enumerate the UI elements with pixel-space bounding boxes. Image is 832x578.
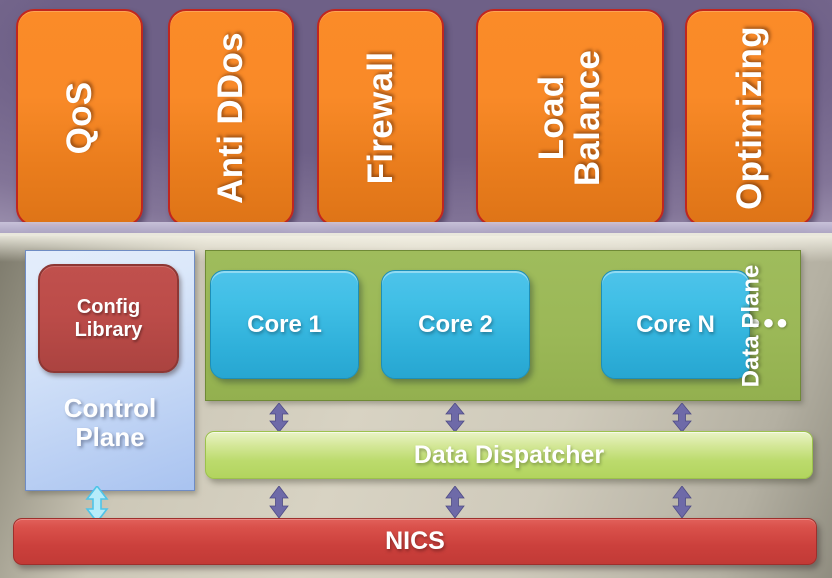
config-library-line2: Library (75, 319, 143, 341)
connector-control-plane-nics-arrow (85, 486, 109, 522)
data-dispatcher-label: Data Dispatcher (414, 441, 604, 470)
core-box-2-label: Core 2 (418, 311, 493, 339)
control-plane-block[interactable]: Config Library Control Plane (25, 250, 195, 491)
core-box-2[interactable]: Core 2 (381, 270, 530, 379)
service-card-load-balance[interactable]: Load Balance (476, 9, 664, 226)
core-box-1[interactable]: Core 1 (210, 270, 359, 379)
config-library-block[interactable]: Config Library (38, 264, 179, 373)
connector-coren-dispatcher-arrow (672, 403, 692, 432)
architecture-diagram: QoS Anti DDos Firewall Load Balance Opti… (0, 0, 832, 578)
connector-core2-dispatcher-arrow (445, 403, 465, 432)
connector-dispatcher-nics-arrow-1 (269, 486, 289, 518)
control-plane-label: Control Plane (26, 394, 194, 452)
control-plane-line1: Control (26, 394, 194, 423)
service-card-anti-ddos-label: Anti DDos (213, 32, 249, 204)
service-card-load-balance-line2: Balance (570, 49, 606, 185)
config-library-line1: Config (75, 296, 143, 318)
service-card-optimizing-label: Optimizing (732, 26, 768, 210)
nics-label: NICS (385, 527, 445, 556)
service-card-optimizing[interactable]: Optimizing (685, 9, 814, 226)
service-card-firewall-label: Firewall (363, 51, 399, 184)
core-box-1-label: Core 1 (247, 311, 322, 339)
control-plane-line2: Plane (26, 423, 194, 452)
core-box-n-label: Core N (636, 311, 715, 339)
nics-bar[interactable]: NICS (13, 518, 817, 565)
service-layer-panel: QoS Anti DDos Firewall Load Balance Opti… (0, 0, 832, 233)
service-card-firewall[interactable]: Firewall (317, 9, 444, 226)
data-plane-block[interactable]: Core 1 Core 2 ••• Core N Data Plane (205, 250, 801, 401)
data-dispatcher-bar[interactable]: Data Dispatcher (205, 431, 813, 479)
core-box-n[interactable]: Core N (601, 270, 750, 379)
connector-dispatcher-nics-arrow-3 (672, 486, 692, 518)
service-card-qos-label: QoS (62, 81, 98, 154)
connector-dispatcher-nics-arrow-2 (445, 486, 465, 518)
service-card-qos[interactable]: QoS (16, 9, 143, 226)
platform-layer-panel: Config Library Control Plane Core 1 Core… (0, 233, 832, 578)
data-plane-label: Data Plane (738, 264, 766, 387)
service-card-load-balance-line1: Load (534, 49, 570, 185)
service-card-load-balance-label: Load Balance (534, 49, 606, 185)
service-card-anti-ddos[interactable]: Anti DDos (168, 9, 294, 226)
connector-core1-dispatcher-arrow (269, 403, 289, 432)
config-library-label: Config Library (75, 296, 143, 341)
